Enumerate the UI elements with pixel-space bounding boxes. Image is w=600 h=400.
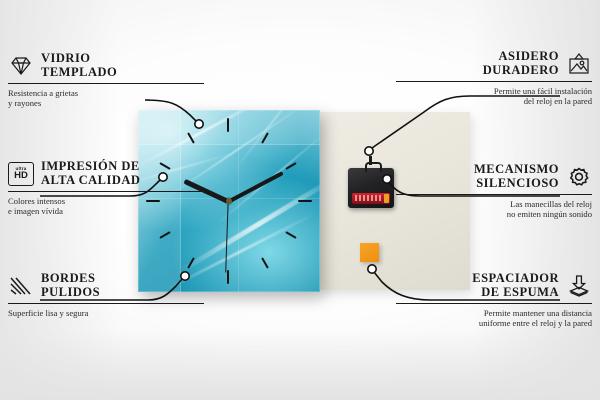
callout-desc-line2: uniforme entre el reloj y la pared <box>479 318 592 328</box>
callout-divider <box>396 303 592 304</box>
callout-desc-line1: Las manecillas del reloj <box>510 199 592 209</box>
hd-badge-large-text: HD <box>14 171 28 181</box>
callout-title-line1: ESPACIADOR <box>472 271 559 285</box>
product-infographic: VIDRIO TEMPLADO Resistencia a grietas y … <box>0 0 600 400</box>
callout-title-line2: PULIDOS <box>41 285 100 299</box>
callout-title-line1: IMPRESIÓN DE <box>41 159 140 173</box>
callout-title-line2: DE ESPUMA <box>481 285 559 299</box>
callout-divider <box>8 303 204 304</box>
callout-asidero-duradero: ASIDERO DURADERO Permite una fácil insta… <box>396 50 592 107</box>
callout-divider <box>396 194 592 195</box>
callout-title-line1: VIDRIO <box>41 51 91 65</box>
callout-desc-line2: e imagen vívida <box>8 206 63 216</box>
diamond-icon <box>8 54 34 78</box>
callout-desc-line1: Permite una fácil instalación <box>494 86 592 96</box>
foam-spacer-arrow-icon <box>566 274 592 298</box>
callout-vidrio-templado: VIDRIO TEMPLADO Resistencia a grietas y … <box>8 52 204 109</box>
callout-bordes-pulidos: BORDES PULIDOS Superficie lisa y segura <box>8 272 204 318</box>
callout-desc-line2: del reloj en la pared <box>524 96 592 106</box>
callout-mecanismo-silencioso: MECANISMO SILENCIOSO Las manecillas del … <box>396 163 592 220</box>
ultra-hd-badge-icon: ultra HD <box>8 162 34 186</box>
picture-frame-hanger-icon <box>566 52 592 76</box>
callout-desc-line1: Resistencia a grietas <box>8 88 78 98</box>
callout-title-line1: ASIDERO <box>499 49 559 63</box>
callout-impresion-alta-calidad: ultra HD IMPRESIÓN DE ALTA CALIDAD Color… <box>8 160 204 217</box>
callout-desc-line2: no emiten ningún sonido <box>507 209 592 219</box>
callout-title-line2: ALTA CALIDAD <box>41 173 140 187</box>
callout-desc-line1: Superficie lisa y segura <box>8 308 88 318</box>
callout-divider <box>396 81 592 82</box>
callout-title-line2: DURADERO <box>483 63 559 77</box>
callout-divider <box>8 191 204 192</box>
callout-desc-line1: Colores intensos <box>8 196 65 206</box>
callout-title-line1: MECANISMO <box>474 162 559 176</box>
callout-title-line2: TEMPLADO <box>41 65 117 79</box>
callout-divider <box>8 83 204 84</box>
callout-desc-line2: y rayones <box>8 98 41 108</box>
gear-icon <box>566 165 592 189</box>
polished-edges-icon <box>8 274 34 298</box>
callout-title-line1: BORDES <box>41 271 95 285</box>
callout-espaciador-de-espuma: ESPACIADOR DE ESPUMA Permite mantener un… <box>396 272 592 329</box>
callout-desc-line1: Permite mantener una distancia <box>484 308 592 318</box>
callout-title-line2: SILENCIOSO <box>476 176 559 190</box>
